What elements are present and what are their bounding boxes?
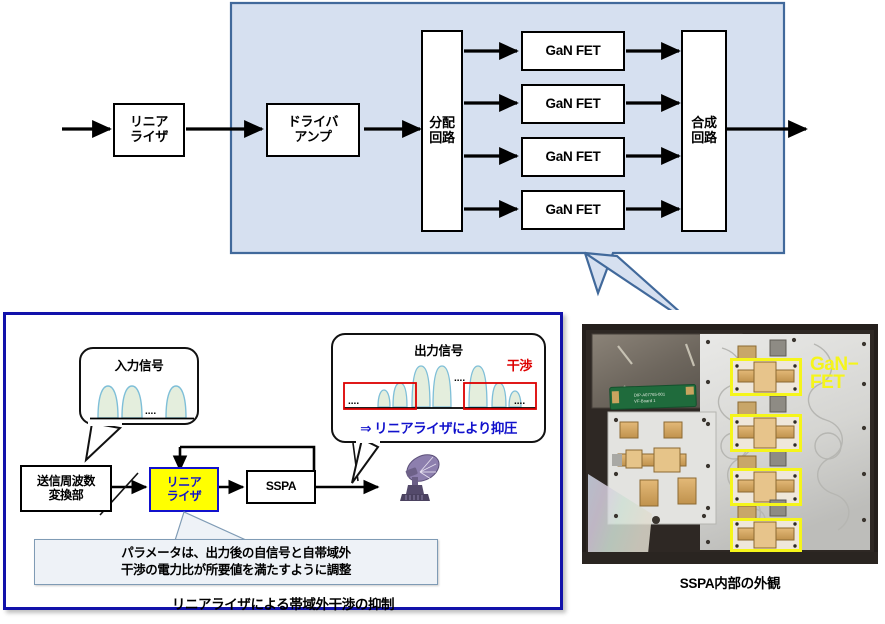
block-combiner: 合成 回路 (681, 30, 727, 232)
output-signal-waveform: .... .... .... (336, 357, 545, 415)
slide-root: リニア ライザ ドライバ アンプ 分配 回路 GaN FET GaN FET G… (0, 0, 885, 624)
gan-fet-highlight-1 (730, 358, 802, 396)
block-gan-fet-3-label: GaN FET (546, 149, 601, 164)
block-driver-amp: ドライバ アンプ (266, 103, 360, 157)
param-callout-text: パラメータは、出力後の自信号と自帯域外 干渉の電力比が所要値を満たすように調整 (121, 545, 351, 579)
output-signal-bubble: 出力信号 干渉 .... .... .... ⇒ リニア (331, 333, 546, 443)
block-gan-fet-3: GaN FET (521, 137, 625, 177)
svg-text:....: .... (514, 396, 525, 407)
block-linearizer-label: リニア ライザ (130, 115, 168, 144)
sspa-internal-photo: DIP-A07765-001 VF-Board 1 (582, 324, 878, 564)
box-freq-converter: 送信周波数 変換部 (20, 465, 112, 512)
block-gan-fet-2-label: GaN FET (546, 96, 601, 111)
sspa-photo-wrapper: DIP-A07765-001 VF-Board 1 (582, 324, 878, 564)
svg-text:....: .... (348, 396, 359, 407)
block-linearizer: リニア ライザ (113, 103, 185, 157)
box-linearizer-label: リニア ライザ (167, 476, 202, 504)
input-signal-title: 入力信号 (81, 355, 197, 374)
block-gan-fet-1-label: GaN FET (546, 43, 601, 58)
block-gan-fet-1: GaN FET (521, 31, 625, 71)
output-bubble-tail (328, 437, 388, 489)
svg-text:VF-Board 1: VF-Board 1 (634, 398, 656, 404)
block-gan-fet-4-label: GaN FET (546, 202, 601, 217)
gan-fet-highlight-4 (730, 518, 802, 552)
block-gan-fet-4: GaN FET (521, 190, 625, 230)
left-panel-caption: リニアライザによる帯域外干渉の抑制 (6, 593, 560, 613)
block-gan-fet-2: GaN FET (521, 84, 625, 124)
satellite-dish-icon (386, 447, 448, 509)
box-freq-converter-label: 送信周波数 変換部 (37, 475, 95, 503)
input-bubble-tail (76, 420, 136, 465)
block-driver-amp-label: ドライバ アンプ (288, 115, 339, 144)
linearizer-concept-panel: 入力信号 .... 出力信号 干渉 (3, 312, 563, 610)
param-callout-box: パラメータは、出力後の自信号と自帯域外 干渉の電力比が所要値を満たすように調整 (34, 539, 438, 585)
gan-fet-photo-label: GaN− FET (810, 356, 858, 392)
block-divider-label: 分配 回路 (429, 116, 454, 145)
suppress-text: ⇒ リニアライザにより抑圧 (333, 417, 544, 437)
photo-caption: SSPA内部の外観 (582, 572, 878, 592)
gan-fet-highlight-3 (730, 468, 802, 506)
box-linearizer: リニア ライザ (149, 467, 219, 512)
box-sspa: SSPA (246, 470, 316, 504)
svg-text:....: .... (145, 406, 156, 417)
gan-fet-highlight-2 (730, 414, 802, 452)
box-sspa-label: SSPA (266, 480, 296, 494)
block-combiner-label: 合成 回路 (691, 116, 716, 145)
input-signal-waveform: .... (82, 374, 198, 424)
block-divider: 分配 回路 (421, 30, 463, 232)
input-signal-bubble: 入力信号 .... (79, 347, 199, 425)
top-block-diagram: リニア ライザ ドライバ アンプ 分配 回路 GaN FET GaN FET G… (0, 0, 885, 300)
